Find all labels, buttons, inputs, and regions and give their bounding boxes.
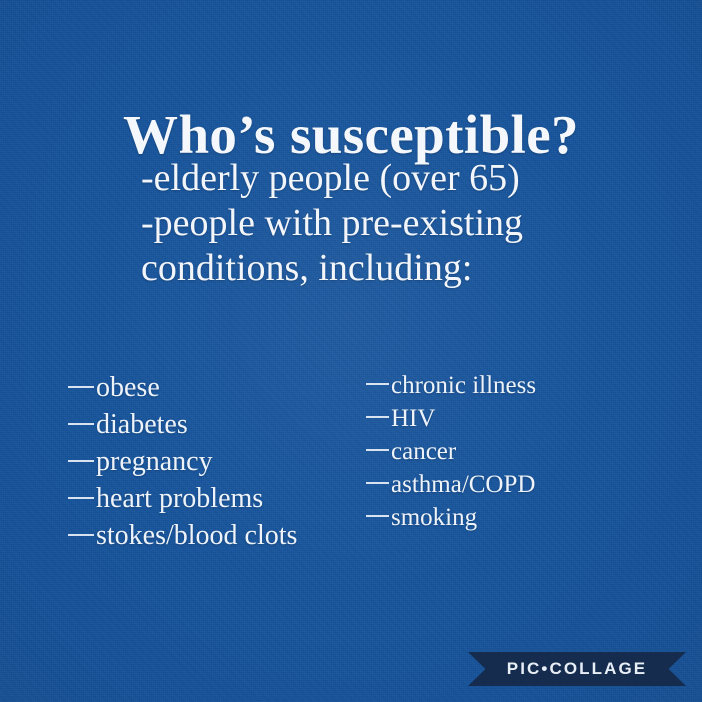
list-item: diabetes (68, 406, 297, 443)
watermark-label: PIC•COLLAGE (507, 659, 648, 679)
intro-line-1: -elderly people (over 65) (141, 156, 661, 201)
piccollage-watermark: PIC•COLLAGE (468, 652, 686, 686)
list-item: asthma/COPD (366, 468, 536, 501)
poster-canvas: Who’s susceptible? -elderly people (over… (0, 0, 702, 702)
dash-icon (68, 386, 94, 388)
dash-icon (366, 383, 389, 385)
dash-icon (366, 515, 389, 517)
list-item-label: chronic illness (391, 369, 536, 402)
dash-icon (366, 416, 389, 418)
dash-icon (366, 482, 389, 484)
list-item: pregnancy (68, 443, 297, 480)
dash-icon (68, 497, 94, 499)
intro-paragraph: -elderly people (over 65) -people with p… (141, 156, 661, 291)
list-item: obese (68, 369, 297, 406)
list-item: heart problems (68, 480, 297, 517)
list-item-label: stokes/blood clots (96, 517, 297, 554)
list-item-label: smoking (391, 501, 477, 534)
dash-icon (366, 449, 389, 451)
list-item: HIV (366, 402, 536, 435)
list-item-label: HIV (391, 402, 435, 435)
list-item: stokes/blood clots (68, 517, 297, 554)
conditions-column-right: chronic illness HIV cancer asthma/COPD s… (366, 369, 536, 534)
conditions-columns: obese diabetes pregnancy heart problems … (0, 369, 702, 569)
list-item-label: pregnancy (96, 443, 213, 480)
dash-icon (68, 460, 94, 462)
intro-line-3: conditions, including: (141, 246, 661, 291)
dash-icon (68, 423, 94, 425)
list-item-label: cancer (391, 435, 456, 468)
list-item: smoking (366, 501, 536, 534)
conditions-column-left: obese diabetes pregnancy heart problems … (68, 369, 297, 554)
intro-line-2: -people with pre-existing (141, 201, 661, 246)
list-item-label: obese (96, 369, 160, 406)
list-item: cancer (366, 435, 536, 468)
list-item: chronic illness (366, 369, 536, 402)
list-item-label: asthma/COPD (391, 468, 535, 501)
list-item-label: heart problems (96, 480, 263, 517)
list-item-label: diabetes (96, 406, 188, 443)
dash-icon (68, 534, 94, 536)
